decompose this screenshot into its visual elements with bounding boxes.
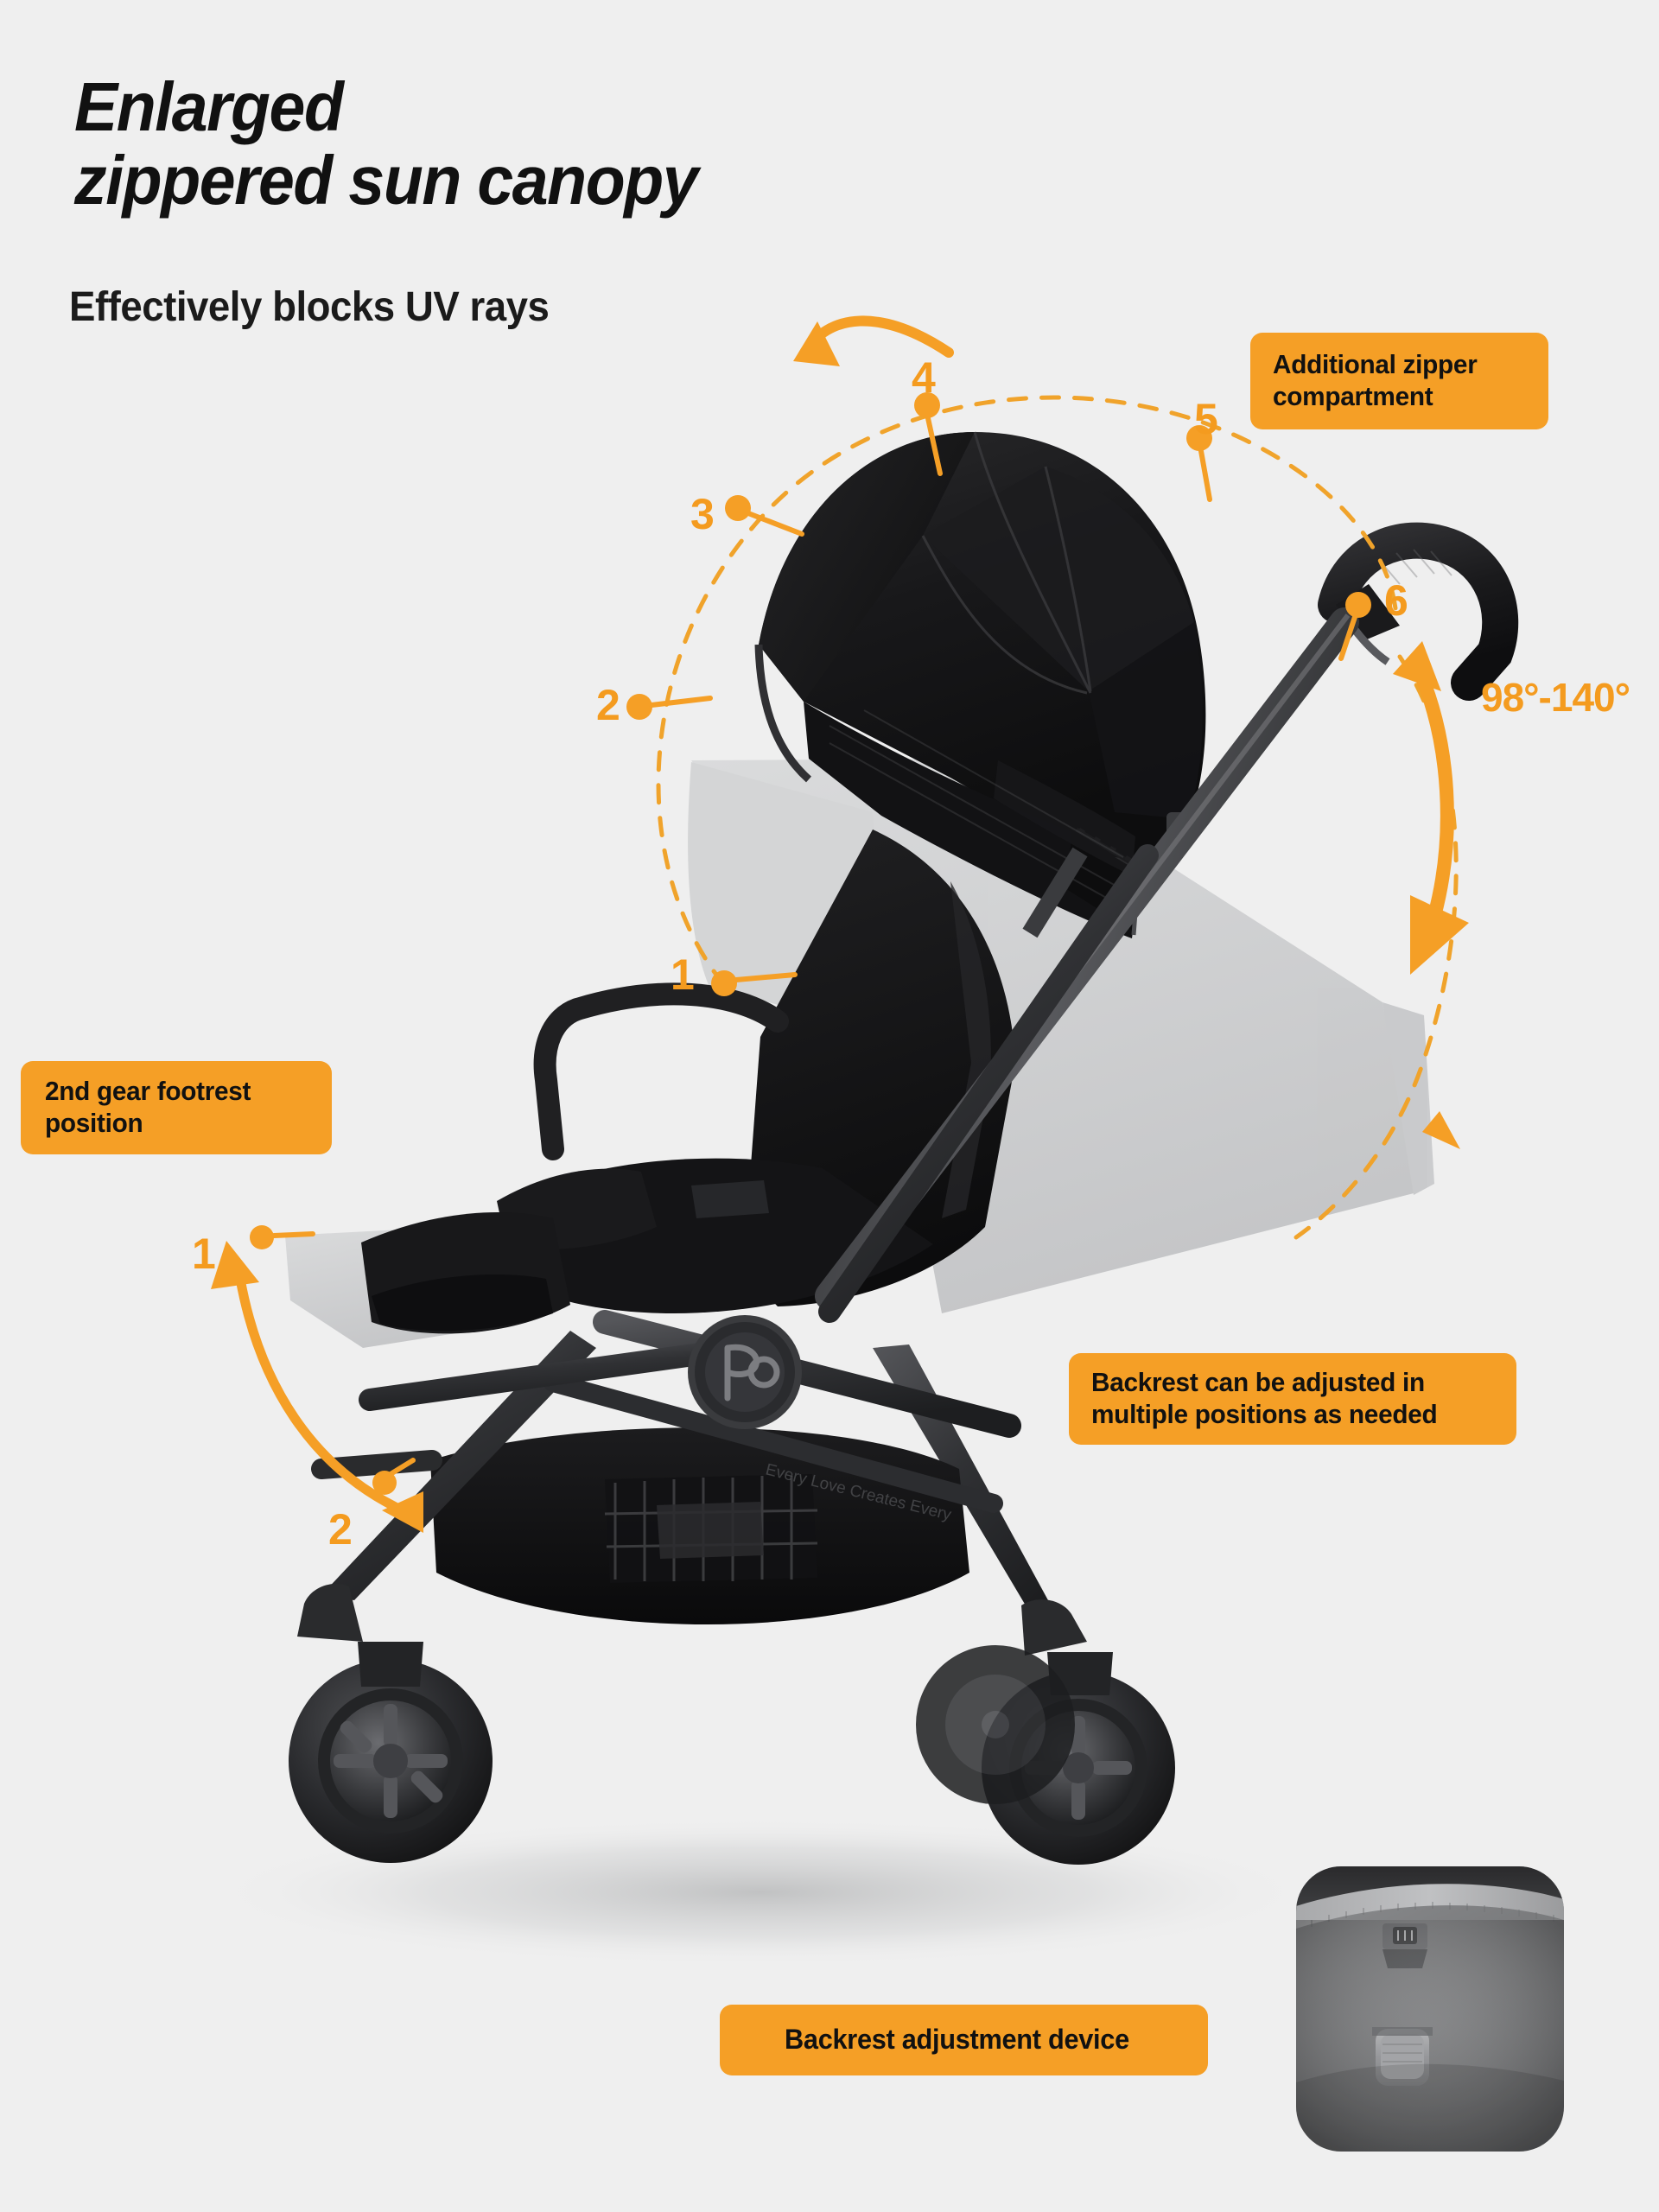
badge-zipper-label: Additional zipper compartment	[1273, 349, 1516, 412]
badge-backrest-label: Backrest can be adjusted in multiple pos…	[1091, 1367, 1478, 1430]
footrest-position-dots	[250, 1225, 413, 1495]
footrest-marker-2: 2	[328, 1508, 352, 1551]
backrest-adjustment-inset-photo	[1296, 1866, 1564, 2152]
canopy-marker-2: 2	[596, 683, 620, 727]
badge-additional-zipper-compartment: Additional zipper compartment	[1250, 333, 1548, 429]
canopy-marker-4: 4	[912, 356, 935, 399]
badge-footrest-label: 2nd gear footrest position	[45, 1076, 297, 1139]
canopy-rotation-arc	[658, 397, 1396, 985]
infographic-canvas: Enlarged zippered sun canopy Effectively…	[0, 0, 1659, 2212]
badge-2nd-gear-footrest-position: 2nd gear footrest position	[21, 1061, 332, 1154]
recline-direction-arrow	[1417, 665, 1447, 916]
badge-backrest-adjustment-device: Backrest adjustment device	[720, 2005, 1208, 2075]
canopy-marker-1: 1	[671, 953, 694, 996]
canopy-marker-5: 5	[1194, 397, 1217, 441]
badge-backrest-multiple-positions: Backrest can be adjusted in multiple pos…	[1069, 1353, 1516, 1445]
canopy-marker-6: 6	[1384, 579, 1408, 622]
footrest-marker-1: 1	[192, 1232, 215, 1275]
recline-angle-label: 98°-140°	[1481, 674, 1630, 721]
badge-device-label: Backrest adjustment device	[785, 2024, 1129, 2056]
canopy-marker-3: 3	[690, 493, 714, 536]
canopy-position-markers	[626, 392, 1371, 996]
